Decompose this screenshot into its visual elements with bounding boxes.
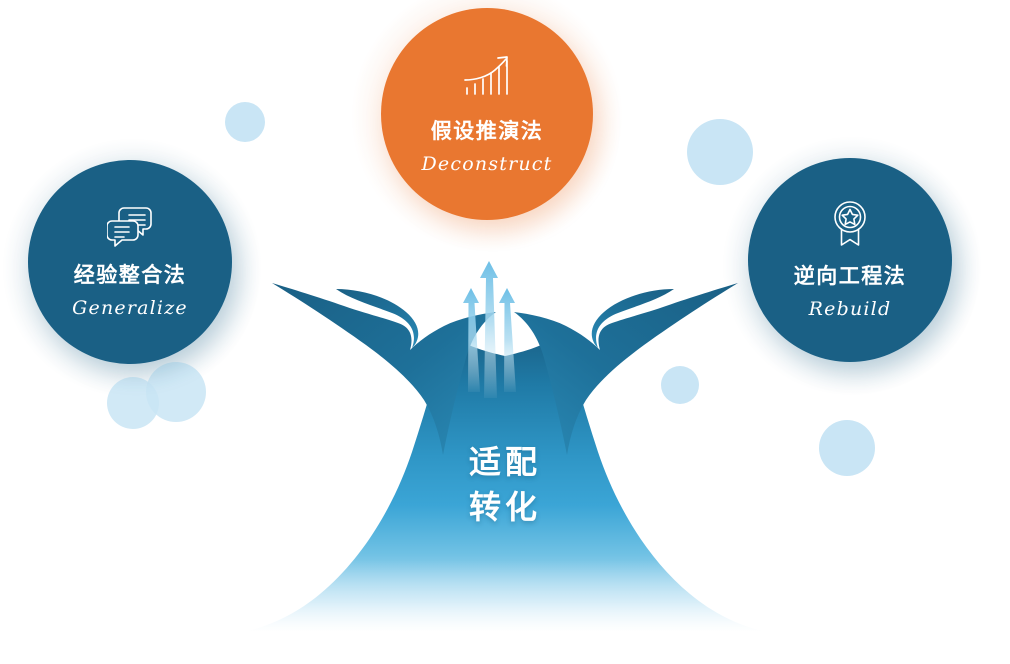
deco-circle-4 xyxy=(687,119,753,185)
deco-circle-6 xyxy=(819,420,875,476)
node-rebuild-subtitle: Rebuild xyxy=(809,298,892,320)
node-deconstruct[interactable]: 假设推演法 Deconstruct xyxy=(381,8,593,220)
node-rebuild-title: 逆向工程法 xyxy=(794,260,907,290)
node-deconstruct-subtitle: Deconstruct xyxy=(422,153,553,175)
node-rebuild[interactable]: 逆向工程法 Rebuild xyxy=(748,158,952,362)
node-generalize[interactable]: 经验整合法 Generalize xyxy=(28,160,232,364)
speech-bubbles-icon xyxy=(107,205,153,247)
node-deconstruct-title: 假设推演法 xyxy=(431,115,544,145)
infographic-canvas: 适配 转化 经验整合法 Generalize xyxy=(0,0,1010,664)
deco-circle-1 xyxy=(225,102,265,142)
bottom-fade xyxy=(180,560,840,664)
deco-circle-3 xyxy=(146,362,206,422)
award-medal-icon xyxy=(829,200,871,248)
node-generalize-title: 经验整合法 xyxy=(74,259,187,289)
node-generalize-subtitle: Generalize xyxy=(72,297,188,319)
rising-arrows xyxy=(463,261,516,398)
growth-chart-icon xyxy=(462,53,512,101)
deco-circle-5 xyxy=(661,366,699,404)
